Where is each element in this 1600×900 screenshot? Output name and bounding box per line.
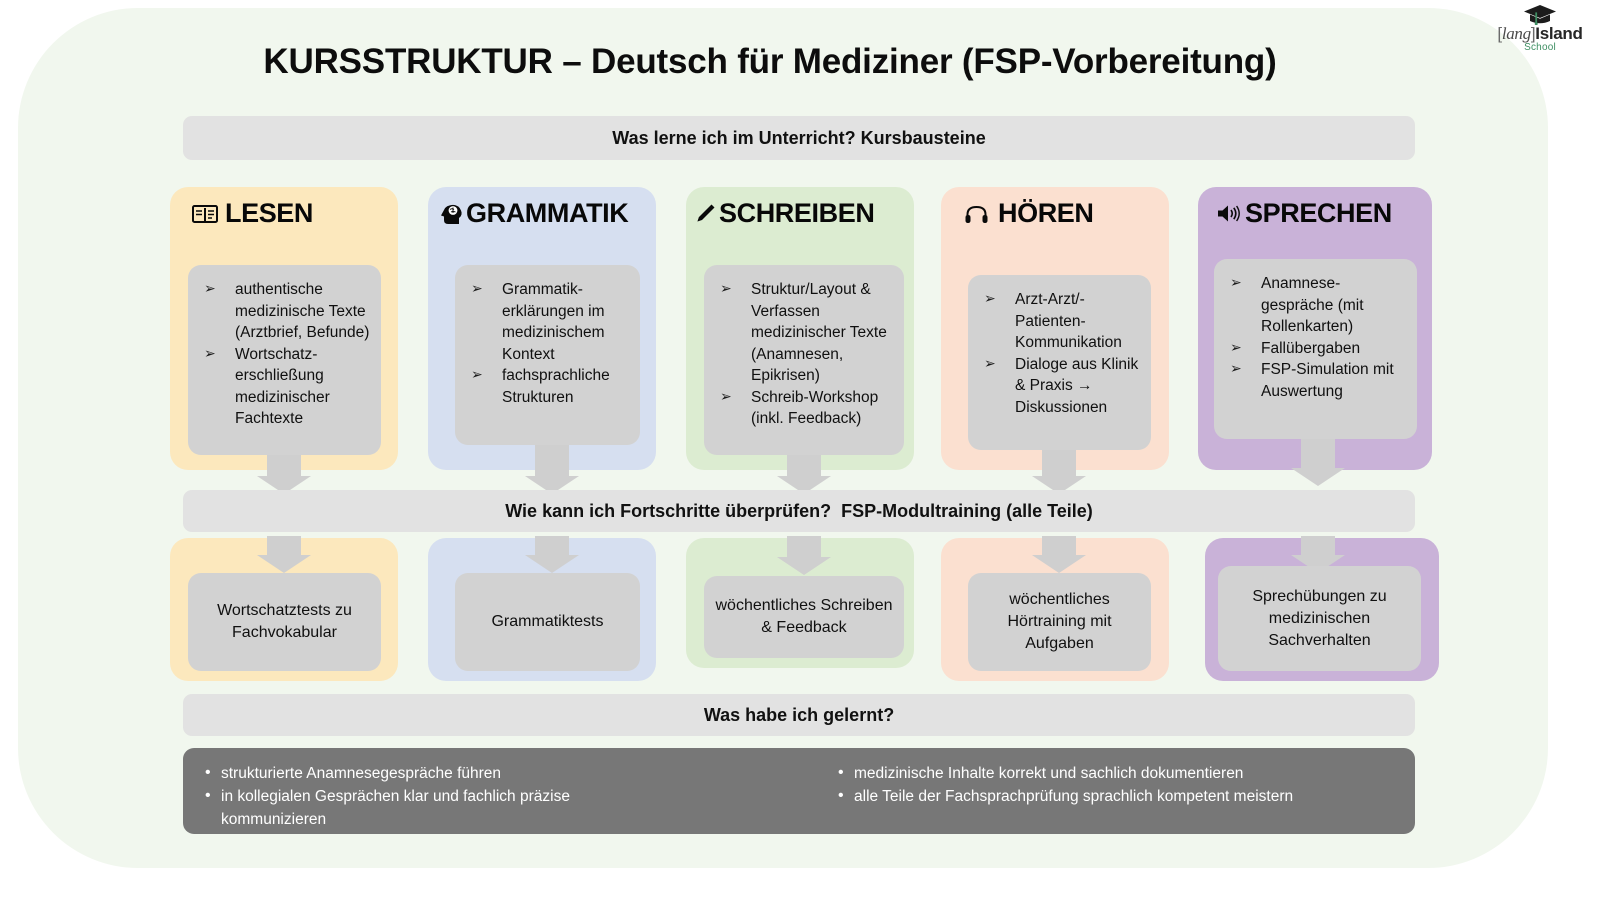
- headphones-icon: [964, 204, 989, 224]
- slide-canvas: [lang]Island School KURSSTRUKTUR – Deuts…: [0, 0, 1600, 900]
- list-item: Grammatik-erklärungen im medizinischem K…: [465, 279, 630, 365]
- list-item: Anamnese-gespräche (mit Rollenkarten): [1224, 273, 1407, 338]
- test-column-schreiben[interactable]: wöchentliches Schreiben & Feedback: [686, 538, 914, 668]
- outcomes-list-left: strukturierte Anamnesegespräche führen i…: [195, 762, 650, 834]
- list-item: Dialoge aus Klinik & Praxis → Diskussion…: [978, 354, 1141, 419]
- flow-arrow-down: [1301, 536, 1335, 556]
- list-item: medizinische Inhalte korrekt und sachlic…: [828, 762, 1328, 785]
- test-box-lesen: Wortschatztests zu Fachvokabular: [188, 573, 381, 671]
- test-box-schreiben: wöchentliches Schreiben & Feedback: [704, 576, 904, 658]
- flow-arrow-down: [1042, 450, 1076, 477]
- test-column-sprechen[interactable]: Sprechübungen zu medizinischen Sachverha…: [1205, 538, 1439, 681]
- flow-arrow-down: [267, 455, 301, 477]
- column-label-hoeren: HÖREN: [998, 198, 1094, 229]
- list-item: Fallübergaben: [1224, 338, 1407, 360]
- flow-arrow-down: [535, 445, 569, 477]
- logo-island-text: Island: [1535, 24, 1582, 43]
- column-hoeren[interactable]: HÖREN Arzt-Arzt/-Patienten-Kommunikation…: [941, 187, 1169, 470]
- pencil-icon: [694, 202, 717, 225]
- content-box-hoeren: Arzt-Arzt/-Patienten-Kommunikation Dialo…: [968, 275, 1151, 450]
- logo-wordmark: [lang]Island: [1488, 25, 1592, 42]
- flow-arrow-down: [1301, 439, 1335, 469]
- column-label-lesen: LESEN: [225, 198, 313, 229]
- band-lernergebnisse: Was habe ich gelernt?: [183, 694, 1415, 736]
- band-kursbausteine: Was lerne ich im Unterricht? Kursbaustei…: [183, 116, 1415, 160]
- column-schreiben[interactable]: SCHREIBEN Struktur/Layout & Verfassen me…: [686, 187, 914, 470]
- column-sprechen[interactable]: SPRECHEN Anamnese-gespräche (mit Rollenk…: [1198, 187, 1432, 470]
- list-item: Struktur/Layout & Verfassen medizinische…: [714, 279, 894, 387]
- list-item: FSP-Simulation mit Auswertung: [1224, 359, 1407, 402]
- flow-arrow-down: [787, 455, 821, 477]
- test-box-hoeren: wöchentliches Hörtraining mit Aufgaben: [968, 573, 1151, 671]
- column-header-hoeren: HÖREN: [941, 187, 1169, 229]
- logo-lang-text: lang: [1502, 24, 1531, 43]
- list-item: alle Teile der Fachsprachprüfung sprachl…: [828, 785, 1328, 808]
- list-item: Arzt-Arzt/-Patienten-Kommunikation: [978, 289, 1141, 354]
- column-lesen[interactable]: LESEN authentische medizinische Texte (A…: [170, 187, 398, 470]
- column-header-schreiben: SCHREIBEN: [686, 187, 914, 229]
- column-header-grammatik: GRAMMATIK: [428, 187, 656, 229]
- band-modultraining: Wie kann ich Fortschritte überprüfen? FS…: [183, 490, 1415, 532]
- list-item: in kollegialen Gesprächen klar und fachl…: [195, 785, 650, 831]
- page-title: KURSSTRUKTUR – Deutsch für Mediziner (FS…: [0, 42, 1540, 82]
- content-box-lesen: authentische medizinische Texte (Arztbri…: [188, 265, 381, 455]
- content-box-grammatik: Grammatik-erklärungen im medizinischem K…: [455, 265, 640, 445]
- test-box-sprechen: Sprechübungen zu medizinischen Sachverha…: [1218, 566, 1421, 671]
- test-box-grammatik: Grammatiktests: [455, 573, 640, 671]
- flow-arrow-down: [267, 536, 301, 556]
- list-item: Wortschatz-erschließung medizinischer Fa…: [198, 344, 371, 430]
- column-grammatik[interactable]: GRAMMATIK Grammatik-erklärungen im mediz…: [428, 187, 656, 470]
- list-item: fachsprachliche Strukturen: [465, 365, 630, 408]
- test-column-grammatik[interactable]: Grammatiktests: [428, 538, 656, 681]
- speaker-icon: [1216, 203, 1243, 224]
- column-label-schreiben: SCHREIBEN: [719, 198, 874, 229]
- flow-arrow-down: [1042, 536, 1076, 556]
- brain-head-icon: [439, 202, 464, 226]
- list-item: strukturierte Anamnesegespräche führen: [195, 762, 650, 785]
- list-item: Schreib-Workshop (inkl. Feedback): [714, 387, 894, 430]
- test-column-lesen[interactable]: Wortschatztests zu Fachvokabular: [170, 538, 398, 681]
- flow-arrow-down: [535, 536, 569, 556]
- graduation-cap-icon: [1488, 4, 1592, 25]
- flow-arrow-down: [787, 536, 821, 558]
- test-column-hoeren[interactable]: wöchentliches Hörtraining mit Aufgaben: [941, 538, 1169, 681]
- column-header-lesen: LESEN: [170, 187, 398, 229]
- column-label-grammatik: GRAMMATIK: [466, 198, 628, 229]
- content-box-sprechen: Anamnese-gespräche (mit Rollenkarten) Fa…: [1214, 259, 1417, 439]
- list-item: authentische medizinische Texte (Arztbri…: [198, 279, 371, 344]
- outcomes-list-right: medizinische Inhalte korrekt und sachlic…: [828, 762, 1328, 834]
- column-label-sprechen: SPRECHEN: [1245, 198, 1392, 229]
- content-box-schreiben: Struktur/Layout & Verfassen medizinische…: [704, 265, 904, 455]
- column-header-sprechen: SPRECHEN: [1198, 187, 1432, 229]
- open-book-icon: [192, 203, 218, 225]
- outcomes-panel: strukturierte Anamnesegespräche führen i…: [183, 748, 1415, 834]
